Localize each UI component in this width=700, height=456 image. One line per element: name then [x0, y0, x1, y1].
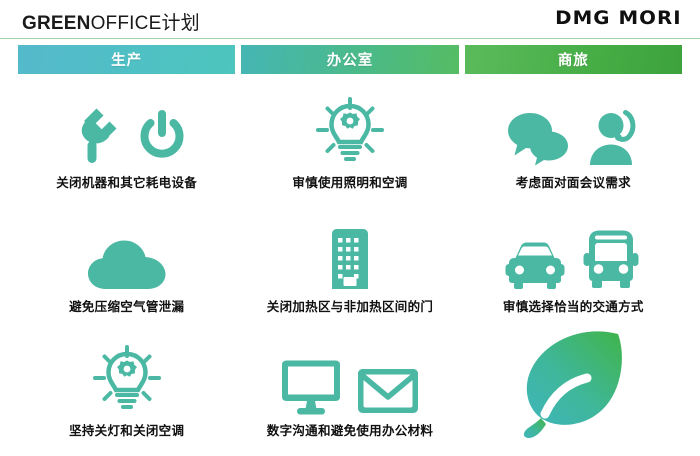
measure-caption: 数字沟通和避免使用办公材料	[267, 424, 433, 440]
measure-cell-meeting-need[interactable]: 考虑面对面会议需求	[465, 80, 682, 204]
greenoffice-slide: GREENOFFICE计划 DMG MORI 生产 办公室 商旅	[0, 0, 700, 456]
power-plug-icon	[66, 105, 122, 167]
lightbulb-gear-icon	[92, 345, 162, 415]
measure-cell-lighting-ac-careful[interactable]: 审慎使用照明和空调	[241, 80, 458, 204]
category-bar-business-travel[interactable]: 商旅	[465, 45, 682, 74]
envelope-icon	[356, 367, 420, 415]
icon-group	[505, 332, 641, 440]
category-bar-row: 生产 办公室 商旅	[18, 45, 682, 74]
speech-bubbles-icon	[507, 111, 571, 167]
measure-caption: 考虑面对面会议需求	[516, 176, 631, 192]
lightbulb-gear-icon	[315, 97, 385, 167]
measure-cell-transport-choice[interactable]: 审慎选择恰当的交通方式	[465, 204, 682, 328]
header-divider	[0, 38, 700, 39]
icon-group	[315, 93, 385, 167]
icon-group	[507, 93, 639, 167]
car-icon	[504, 241, 566, 291]
icon-group	[66, 93, 188, 167]
icon-group	[504, 217, 642, 291]
dmg-mori-logo: DMG MORI	[555, 7, 682, 29]
person-headset-icon	[585, 107, 639, 167]
measure-caption: 审慎使用照明和空调	[292, 176, 407, 192]
measure-cell-power-off-machines[interactable]: 关闭机器和其它耗电设备	[18, 80, 235, 204]
measure-caption: 关闭机器和其它耗电设备	[56, 176, 197, 192]
measure-cell-lights-ac-off[interactable]: 坚持关灯和关闭空调	[18, 328, 235, 452]
measure-cell-digital-communication[interactable]: 数字沟通和避免使用办公材料	[241, 328, 458, 452]
building-icon	[325, 227, 375, 291]
page-title-office: OFFICE	[91, 13, 162, 34]
category-bar-production[interactable]: 生产	[18, 45, 235, 74]
monitor-icon	[280, 359, 342, 415]
page-title-suffix: 计划	[161, 13, 199, 34]
category-bar-office[interactable]: 办公室	[241, 45, 458, 74]
icon-group	[325, 217, 375, 291]
category-label-business-travel: 商旅	[558, 49, 589, 70]
icon-group	[92, 341, 162, 415]
measure-caption: 避免压缩空气管泄漏	[69, 300, 184, 316]
leaf-icon	[505, 328, 641, 440]
bus-icon	[580, 229, 642, 291]
measure-cell-leaf[interactable]	[465, 328, 682, 452]
measure-caption: 关闭加热区与非加热区间的门	[267, 300, 433, 316]
measure-caption: 审慎选择恰当的交通方式	[503, 300, 644, 316]
cloud-icon	[87, 237, 167, 291]
slide-header: GREENOFFICE计划 DMG MORI	[0, 0, 700, 38]
page-title: GREENOFFICE计划	[22, 8, 200, 35]
category-label-office: 办公室	[327, 49, 374, 70]
page-title-green: GREEN	[22, 13, 91, 34]
measure-caption: 坚持关灯和关闭空调	[69, 424, 184, 440]
measure-cell-air-leaks[interactable]: 避免压缩空气管泄漏	[18, 204, 235, 328]
measures-grid: 关闭机器和其它耗电设备	[18, 80, 682, 452]
category-label-production: 生产	[111, 49, 142, 70]
measure-cell-close-doors[interactable]: 关闭加热区与非加热区间的门	[241, 204, 458, 328]
icon-group	[87, 217, 167, 291]
power-button-icon	[136, 107, 188, 167]
icon-group	[280, 341, 420, 415]
